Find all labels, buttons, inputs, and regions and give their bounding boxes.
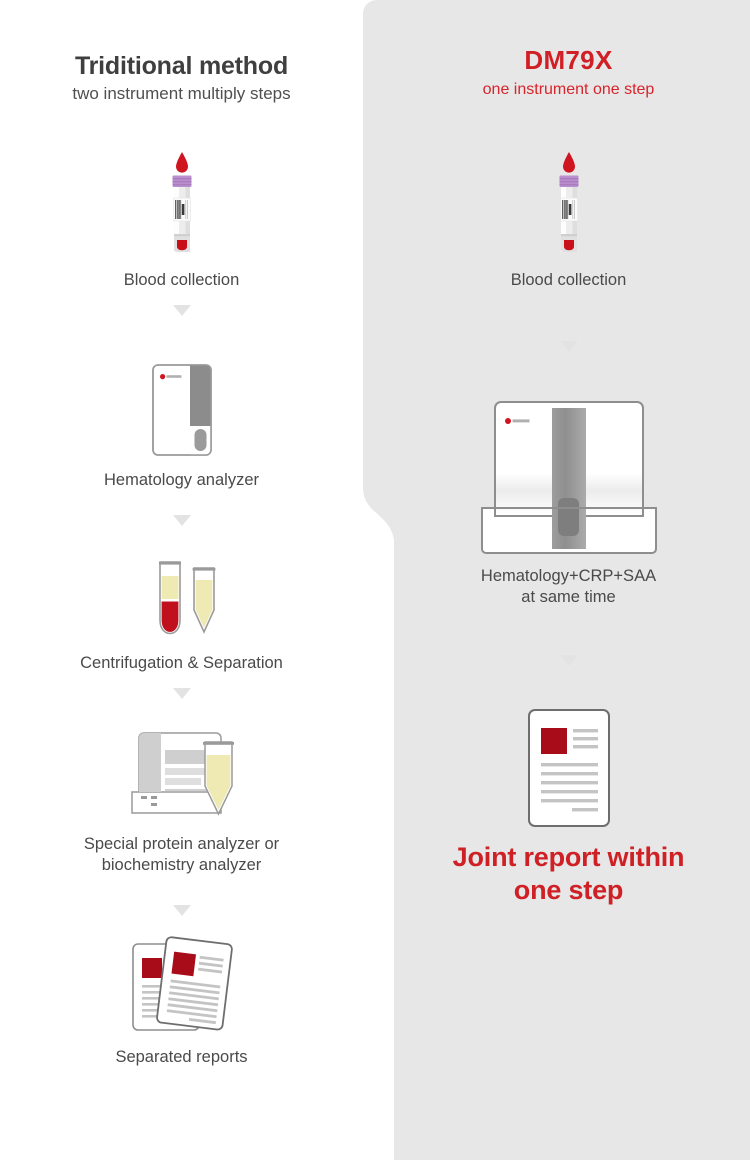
- left-arrow-4: [0, 905, 363, 916]
- chevron-down-icon: [173, 905, 191, 916]
- traditional-title: Triditional method: [0, 52, 363, 81]
- left-step-caption: Blood collection: [124, 270, 240, 291]
- left-arrow-1: [0, 305, 363, 316]
- chevron-down-icon: [173, 515, 191, 526]
- dm79x-analyzer-icon: [476, 396, 662, 556]
- chevron-down-icon: [173, 688, 191, 699]
- left-arrow-3: [0, 688, 363, 699]
- right-step-caption: Joint report within one step: [453, 841, 685, 907]
- right-step-dm79x-analyzer: Hematology+CRP+SAA at same time: [387, 396, 750, 607]
- left-step-caption: Separated reports: [115, 1047, 247, 1068]
- hematology-analyzer-icon: [132, 360, 232, 460]
- right-arrow-1: [387, 341, 750, 352]
- joint-report-icon: [523, 706, 615, 831]
- left-step-blood-collection: Blood collection: [0, 148, 363, 291]
- chevron-down-icon: [560, 655, 578, 666]
- chevron-down-icon: [173, 305, 191, 316]
- centrifugation-tubes-icon: [136, 558, 228, 643]
- blood-collection-tube-icon: [147, 148, 217, 260]
- left-arrow-2: [0, 515, 363, 526]
- right-step-blood-collection: Blood collection: [387, 148, 750, 291]
- left-step-caption: Centrifugation & Separation: [80, 653, 283, 674]
- blood-collection-tube-icon: [534, 148, 604, 260]
- right-step-caption: Hematology+CRP+SAA at same time: [481, 566, 656, 607]
- left-step-protein-analyzer: Special protein analyzer or biochemistry…: [0, 724, 363, 875]
- right-step-joint-report: Joint report within one step: [387, 706, 750, 907]
- traditional-header: Triditional method two instrument multip…: [0, 52, 363, 104]
- traditional-subtitle: two instrument multiply steps: [0, 84, 363, 104]
- infographic-root: Triditional method two instrument multip…: [0, 0, 750, 1160]
- left-step-centrifugation: Centrifugation & Separation: [0, 558, 363, 674]
- dm79x-column: DM79X one instrument one step: [387, 0, 750, 1160]
- separated-reports-icon: [119, 932, 244, 1037]
- left-step-separated-reports: Separated reports: [0, 932, 363, 1068]
- special-protein-analyzer-icon: [119, 724, 244, 824]
- dm79x-title: DM79X: [387, 46, 750, 76]
- dm79x-header: DM79X one instrument one step: [387, 46, 750, 99]
- left-step-caption: Special protein analyzer or biochemistry…: [84, 834, 279, 875]
- left-step-caption: Hematology analyzer: [104, 470, 259, 491]
- dm79x-subtitle: one instrument one step: [387, 80, 750, 99]
- left-step-hematology-analyzer: Hematology analyzer: [0, 360, 363, 491]
- traditional-method-column: Triditional method two instrument multip…: [0, 0, 363, 1160]
- chevron-down-icon: [560, 341, 578, 352]
- right-arrow-2: [387, 655, 750, 666]
- right-step-caption: Blood collection: [511, 270, 627, 291]
